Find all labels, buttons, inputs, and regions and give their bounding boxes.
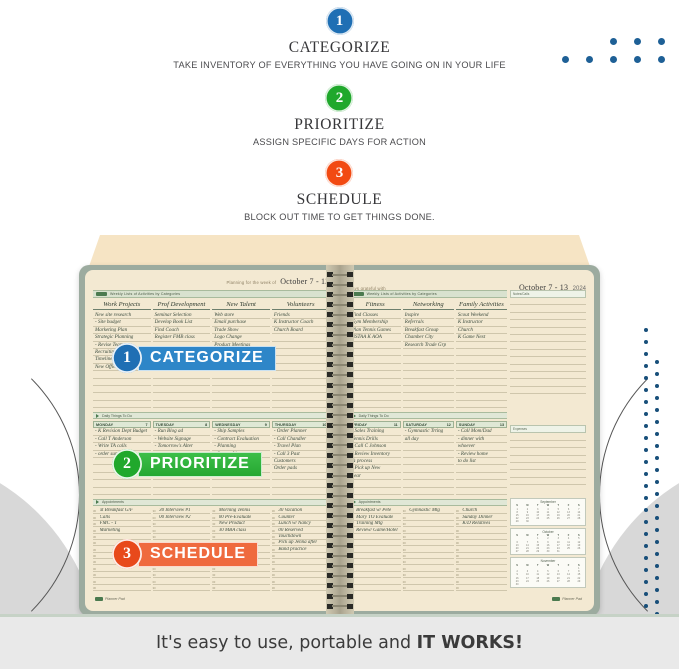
appointment-text — [278, 566, 279, 571]
decorative-dot-column-right — [655, 360, 659, 640]
notes-line — [510, 372, 586, 379]
spiral-wire — [332, 314, 348, 316]
day-task-line: - Call Chandler — [272, 436, 330, 443]
appointment-text — [219, 585, 220, 590]
right-appointments-band: Appointments — [350, 499, 507, 506]
category-column: VolunteersFriendsK Instructor CoachChurc… — [272, 301, 330, 408]
appointment-line: 30 — [272, 585, 330, 591]
mini-calendar-day: 30 — [543, 550, 553, 553]
notes-line — [510, 328, 586, 335]
right-appointments-label: Appointments — [359, 500, 381, 504]
appointment-time: 00 — [272, 568, 277, 571]
appointment-time: 00 — [403, 555, 408, 558]
appointment-text: 00 Reserved — [278, 528, 303, 533]
category-entry-line — [403, 379, 454, 386]
category-column: NetworkingInspireReferralsBreakfast Grou… — [403, 301, 454, 408]
dot — [644, 568, 648, 572]
day-number: 12 — [447, 423, 451, 427]
day-task-line — [403, 473, 454, 480]
spiral-wire — [332, 304, 348, 306]
category-entry-line — [272, 386, 330, 393]
mini-calendar-day — [563, 583, 573, 586]
appointment-time: 30 — [403, 549, 408, 552]
appointment-text — [462, 579, 463, 584]
appointment-time: 30 — [93, 574, 98, 577]
left-appointments-band: Appointments — [93, 499, 329, 506]
mini-calendar-day — [563, 550, 573, 553]
planner-pad-logo-icon — [552, 597, 560, 600]
dot — [655, 444, 659, 448]
appointment-time: 30 — [403, 510, 408, 513]
spiral-wire — [332, 464, 348, 466]
category-column: Family ActivitiesScout WeekendK Instruct… — [456, 301, 507, 408]
dot — [644, 376, 648, 380]
appointment-text — [356, 585, 357, 590]
appointment-time: 30 — [93, 510, 98, 513]
right-daily-band-label: Daily Things To Do — [359, 414, 389, 418]
appointment-text — [100, 534, 101, 539]
category-entry-line — [456, 364, 507, 371]
spiral-wire — [332, 414, 348, 416]
day-task-line: - Call T Anderson — [93, 436, 151, 443]
expense-line — [510, 433, 586, 440]
day-task-line: - Contract Evaluation — [212, 436, 270, 443]
day-task-line: - Run Blog ad — [153, 428, 211, 435]
notes-line — [510, 379, 586, 386]
spiral-wire — [332, 364, 348, 366]
category-entry-line — [272, 401, 330, 408]
appointment-text — [409, 572, 410, 577]
planner-spiral-binding — [326, 265, 354, 616]
dot — [644, 328, 648, 332]
appointment-time: 00 — [403, 530, 408, 533]
day-task-line: gear — [350, 473, 401, 480]
poster-canvas: 1 CATEGORIZE TAKE INVENTORY OF EVERYTHIN… — [0, 0, 679, 669]
dot — [655, 384, 659, 388]
day-task-line: Tennis Drills — [350, 436, 401, 443]
appointment-text: Church — [462, 508, 477, 513]
appointment-text — [409, 534, 410, 539]
dot — [644, 448, 648, 452]
appointment-text — [356, 547, 357, 552]
category-entry-line — [153, 401, 211, 408]
step-subtitle-1: TAKE INVENTORY OF EVERYTHING YOU HAVE GO… — [173, 60, 505, 70]
category-entry-line: Church — [456, 327, 507, 334]
appointment-time: 30 — [403, 587, 408, 590]
day-name: MONDAY — [96, 423, 113, 427]
appointment-text — [409, 579, 410, 584]
appointment-time: 00 — [403, 568, 408, 571]
spiral-ring — [326, 563, 354, 568]
appointment-text: FMC - T — [100, 521, 118, 526]
category-entry-line — [350, 401, 401, 408]
day-task-line: Order pads — [272, 465, 330, 472]
day-task-line — [403, 488, 454, 495]
day-task-line — [456, 488, 507, 495]
dot — [644, 484, 648, 488]
appointment-time: 00 — [456, 581, 461, 584]
spiral-ring — [326, 503, 354, 508]
appointment-text — [100, 572, 101, 577]
step-title-2: PRIORITIZE — [294, 116, 384, 134]
appointment-text: 00 Interview #2 — [159, 515, 190, 520]
appointment-column: 30Breakfast w/ Pete00Mary TO Evaluate30T… — [350, 508, 401, 591]
notes-line — [510, 365, 586, 372]
appointment-time: 30 — [456, 536, 461, 539]
step-subtitle-3: BLOCK OUT TIME TO GET THINGS DONE. — [244, 212, 435, 222]
notes-line — [510, 335, 586, 342]
step-subtitle-2: ASSIGN SPECIFIC DAYS FOR ACTION — [253, 137, 426, 147]
appointment-time: 00 — [93, 555, 98, 558]
day-column: SATURDAY12- Gymnastic Trting all day — [403, 421, 454, 495]
day-task-line: to do list — [456, 458, 507, 465]
mini-calendar: SeptemberSMTWTFS123456789101112131415161… — [510, 498, 586, 526]
appointment-text: Breakfast w/ Pete — [356, 508, 391, 513]
category-entry-line: Web store — [212, 312, 270, 319]
spiral-ring — [326, 523, 354, 528]
appointment-time: 30 — [153, 523, 158, 526]
notes-line — [510, 350, 586, 357]
dot — [644, 544, 648, 548]
dot — [644, 388, 648, 392]
day-task-line: - Pick up New — [350, 465, 401, 472]
appointment-time: 00 — [93, 517, 98, 520]
spiral-ring — [326, 342, 354, 347]
band-tab-icon — [353, 292, 364, 296]
day-task-line: - Call C Johnson — [350, 443, 401, 450]
appointment-text — [409, 528, 410, 533]
dot — [655, 396, 659, 400]
overlay-banner-prioritize: 2 PRIORITIZE — [112, 449, 262, 479]
day-header: SUNDAY13 — [456, 421, 507, 428]
appointment-text — [356, 579, 357, 584]
category-entry-line — [350, 379, 401, 386]
day-task-line — [272, 488, 330, 495]
appointment-text — [278, 585, 279, 590]
category-column-title: Fitness — [350, 301, 401, 310]
day-task-line: - Review home — [456, 451, 507, 458]
appointment-time: 30 — [272, 587, 277, 590]
category-entry-line — [272, 379, 330, 386]
appointment-time: 30 — [212, 587, 217, 590]
appointment-text: Counter — [278, 515, 294, 520]
dot — [655, 492, 659, 496]
appointment-text — [462, 528, 463, 533]
category-entry-line — [153, 386, 211, 393]
band-tab-icon — [96, 292, 107, 296]
category-entry-line — [350, 342, 401, 349]
mini-calendar: OctoberSMTWTFS 1234567891011121314151617… — [510, 528, 586, 556]
spiral-ring — [326, 483, 354, 488]
dot — [655, 516, 659, 520]
category-entry-line — [456, 349, 507, 356]
day-header: FRIDAY11 — [350, 421, 401, 428]
mini-calendar-day: 29 — [512, 520, 522, 523]
appointment-text: New Product — [219, 521, 245, 526]
appointment-text — [278, 572, 279, 577]
day-number: 9 — [265, 423, 267, 427]
dot — [644, 580, 648, 584]
appointment-time: 30 — [212, 574, 217, 577]
step-prioritize: 2 PRIORITIZE ASSIGN SPECIFIC DAYS FOR AC… — [253, 84, 426, 147]
appointment-text: Marketing — [100, 528, 121, 533]
category-entry-line — [456, 386, 507, 393]
band-triangle-icon — [96, 414, 99, 418]
appointment-column: 3030 Vacation00Counter30Lunch w/ Nancy00… — [272, 508, 330, 591]
right-page-header: days grateful with October 7 - 13 2024 — [350, 277, 586, 288]
day-name: FRIDAY — [353, 423, 368, 427]
spiral-wire — [332, 404, 348, 406]
category-entry-line — [350, 393, 401, 400]
appointment-text — [100, 579, 101, 584]
day-name: SATURDAY — [406, 423, 427, 427]
day-task-line: - Review Inventory — [350, 451, 401, 458]
expense-line — [510, 463, 586, 470]
day-task-line — [456, 480, 507, 487]
dot — [644, 460, 648, 464]
mini-calendar-month: November — [512, 559, 584, 563]
category-entry-line: Find Classes — [350, 312, 401, 319]
dot — [644, 508, 648, 512]
category-entry-line: Plan Tennis Games — [350, 327, 401, 334]
appointment-text — [356, 553, 357, 558]
appointment-text — [462, 540, 463, 545]
appointment-line: 30 — [153, 585, 211, 591]
spiral-wire — [332, 475, 348, 477]
day-task-line: - Order Planner — [272, 428, 330, 435]
appointment-time: 00 — [403, 581, 408, 584]
category-entry-line — [403, 386, 454, 393]
left-daily-band: Daily Things To Do — [93, 412, 329, 419]
day-task-line — [403, 451, 454, 458]
spiral-wire — [332, 344, 348, 346]
dot — [655, 468, 659, 472]
appointment-time: 30 — [272, 574, 277, 577]
spiral-wire — [332, 525, 348, 527]
category-entry-line: Chamber City — [403, 334, 454, 341]
day-column: THURSDAY10- Order Planner- Call Chandler… — [272, 421, 330, 495]
dot — [644, 412, 648, 416]
appointment-text — [409, 585, 410, 590]
step-categorize: 1 CATEGORIZE TAKE INVENTORY OF EVERYTHIN… — [173, 7, 505, 70]
step-title-1: CATEGORIZE — [289, 39, 391, 57]
appointment-text — [409, 521, 410, 526]
category-entry-line: Scout Weekend — [456, 312, 507, 319]
day-name: WEDNESDAY — [215, 423, 240, 427]
spiral-wire — [332, 605, 348, 607]
spiral-ring — [326, 413, 354, 418]
mini-calendar-day — [553, 520, 563, 523]
category-entry-line — [212, 393, 270, 400]
spiral-wire — [332, 555, 348, 557]
appointment-time: 30 — [153, 510, 158, 513]
spiral-ring — [326, 403, 354, 408]
day-task-line — [153, 488, 211, 495]
appointment-time: 30 — [272, 549, 277, 552]
appointment-text — [159, 585, 160, 590]
appointment-time: 00 — [403, 517, 408, 520]
dot — [644, 604, 648, 608]
appointment-text: Gymnastic Mtg — [409, 508, 440, 513]
appointment-time: 00 — [272, 581, 277, 584]
spiral-wire — [332, 324, 348, 326]
day-number: 8 — [205, 423, 207, 427]
day-task-line — [403, 480, 454, 487]
appointment-line: 30 — [212, 585, 270, 591]
appointment-time: 30 — [93, 536, 98, 539]
category-entry-line: Research Trade Grp — [403, 342, 454, 349]
spiral-wire — [332, 294, 348, 296]
notes-lines-area — [510, 298, 586, 408]
spiral-ring — [326, 372, 354, 377]
bottom-caption-bar: It's easy to use, portable and IT WORKS! — [0, 617, 679, 669]
category-entry-line: Strategic Planning — [93, 334, 151, 341]
mini-calendar-day: 31 — [553, 550, 563, 553]
day-task-line — [350, 480, 401, 487]
spiral-ring — [326, 292, 354, 297]
category-entry-line: K Instructor — [456, 319, 507, 326]
appointment-time: 30 — [153, 587, 158, 590]
appointment-time: 00 — [272, 542, 277, 545]
appointment-text: Review/ Game/Hotel — [356, 528, 398, 533]
dot — [655, 480, 659, 484]
appointment-text — [278, 579, 279, 584]
spiral-ring — [326, 463, 354, 468]
notes-line — [510, 387, 586, 394]
category-entry-line: New site research — [93, 312, 151, 319]
appointment-text: 00 Pre-Evaluate — [219, 515, 252, 520]
appointment-text — [409, 540, 410, 545]
spiral-ring — [326, 543, 354, 548]
mini-calendar-day: 30 — [512, 583, 522, 586]
mini-calendar-day — [522, 583, 532, 586]
category-entry-line — [153, 379, 211, 386]
appointment-text — [409, 515, 410, 520]
category-entry-line — [272, 349, 330, 356]
spiral-ring — [326, 393, 354, 398]
day-header: THURSDAY10 — [272, 421, 330, 428]
dot — [644, 472, 648, 476]
day-header: MONDAY7 — [93, 421, 151, 428]
appointment-text — [278, 559, 279, 564]
mini-calendar-day — [563, 520, 573, 523]
notes-line — [510, 357, 586, 364]
expense-line — [510, 470, 586, 477]
category-entry-line: Find Coach — [153, 327, 211, 334]
spiral-wire — [332, 454, 348, 456]
overlay-badge-1: 1 — [112, 343, 142, 373]
right-category-columns: FitnessFind ClassesGym MembershipPlan Te… — [350, 301, 507, 408]
appointment-text: K/D Relatives — [462, 521, 490, 526]
appointment-text — [159, 572, 160, 577]
appointment-time: 30 — [403, 561, 408, 564]
spiral-wire — [332, 284, 348, 286]
day-column: SUNDAY13- Call Mom/Dad- dinner with whoe… — [456, 421, 507, 495]
spiral-ring — [326, 473, 354, 478]
category-entry-line — [272, 364, 330, 371]
planner-spread: Planning for the week of October 7 - 13 … — [79, 265, 600, 616]
appointment-time: 00 — [93, 581, 98, 584]
appointment-time: 00 — [403, 542, 408, 545]
spiral-ring — [326, 272, 354, 277]
day-name: TUESDAY — [156, 423, 175, 427]
category-entry-line — [272, 334, 330, 341]
appointment-text: Morning Tennis — [219, 508, 251, 513]
category-entry-line — [93, 386, 151, 393]
mini-calendars: SeptemberSMTWTFS123456789101112131415161… — [510, 495, 586, 590]
spiral-wire — [332, 565, 348, 567]
appointment-text — [462, 547, 463, 552]
left-band-label: Weekly Lists of Activities by Categories — [110, 292, 180, 296]
category-entry-line: Trade Show — [212, 327, 270, 334]
spiral-ring — [326, 282, 354, 287]
appointment-time: 00 — [212, 530, 217, 533]
category-column: FitnessFind ClassesGym MembershipPlan Te… — [350, 301, 401, 408]
appointment-time: 00 — [272, 555, 277, 558]
expense-line — [510, 441, 586, 448]
category-entry-line: Seminar Selection — [153, 312, 211, 319]
day-task-line: - Sales Training — [350, 428, 401, 435]
category-entry-line — [212, 386, 270, 393]
appointment-time: 30 — [403, 574, 408, 577]
dot — [644, 352, 648, 356]
category-entry-line — [456, 401, 507, 408]
overlay-label-1: CATEGORIZE — [138, 346, 276, 371]
spiral-ring — [326, 583, 354, 588]
mini-calendar-day — [533, 520, 543, 523]
spiral-wire — [332, 515, 348, 517]
appointment-time: 30 — [272, 523, 277, 526]
spiral-wire — [332, 394, 348, 396]
appointment-time: 30 — [456, 523, 461, 526]
category-entry-line — [350, 386, 401, 393]
dot — [644, 436, 648, 440]
category-entry-line — [350, 349, 401, 356]
right-footer-brand: Planner Pad — [562, 597, 582, 601]
day-task-line: - Travel Plan — [272, 443, 330, 450]
appointment-time: 00 — [456, 517, 461, 520]
appointment-text — [462, 553, 463, 558]
category-entry-line: Develop Book List — [153, 319, 211, 326]
spiral-ring — [326, 453, 354, 458]
mini-calendar-day — [574, 583, 584, 586]
day-name: THURSDAY — [275, 423, 297, 427]
spiral-ring — [326, 383, 354, 388]
dot — [655, 576, 659, 580]
spiral-wire — [332, 374, 348, 376]
category-entry-line — [93, 393, 151, 400]
notes-line — [510, 313, 586, 320]
notes-calls-box[interactable]: Notes/Calls — [510, 290, 586, 298]
appointment-text — [100, 559, 101, 564]
steps-list: 1 CATEGORIZE TAKE INVENTORY OF EVERYTHIN… — [0, 0, 679, 222]
appointment-text — [100, 566, 101, 571]
left-page-footer: Planner Pad — [95, 597, 125, 601]
overlay-badge-3: 3 — [112, 539, 142, 569]
left-daily-band-label: Daily Things To Do — [102, 414, 132, 418]
day-task-line — [403, 465, 454, 472]
category-entry-line — [403, 356, 454, 363]
appointment-text: 30 Interview #1 — [159, 508, 190, 513]
category-entry-line: NSTAA K AOA — [350, 334, 401, 341]
expenses-box[interactable]: Expenses — [510, 425, 586, 433]
spiral-wire — [332, 485, 348, 487]
spiral-wire — [332, 444, 348, 446]
appointment-time: 30 — [272, 536, 277, 539]
spiral-ring — [326, 553, 354, 558]
spiral-ring — [326, 433, 354, 438]
day-number: 11 — [394, 423, 398, 427]
